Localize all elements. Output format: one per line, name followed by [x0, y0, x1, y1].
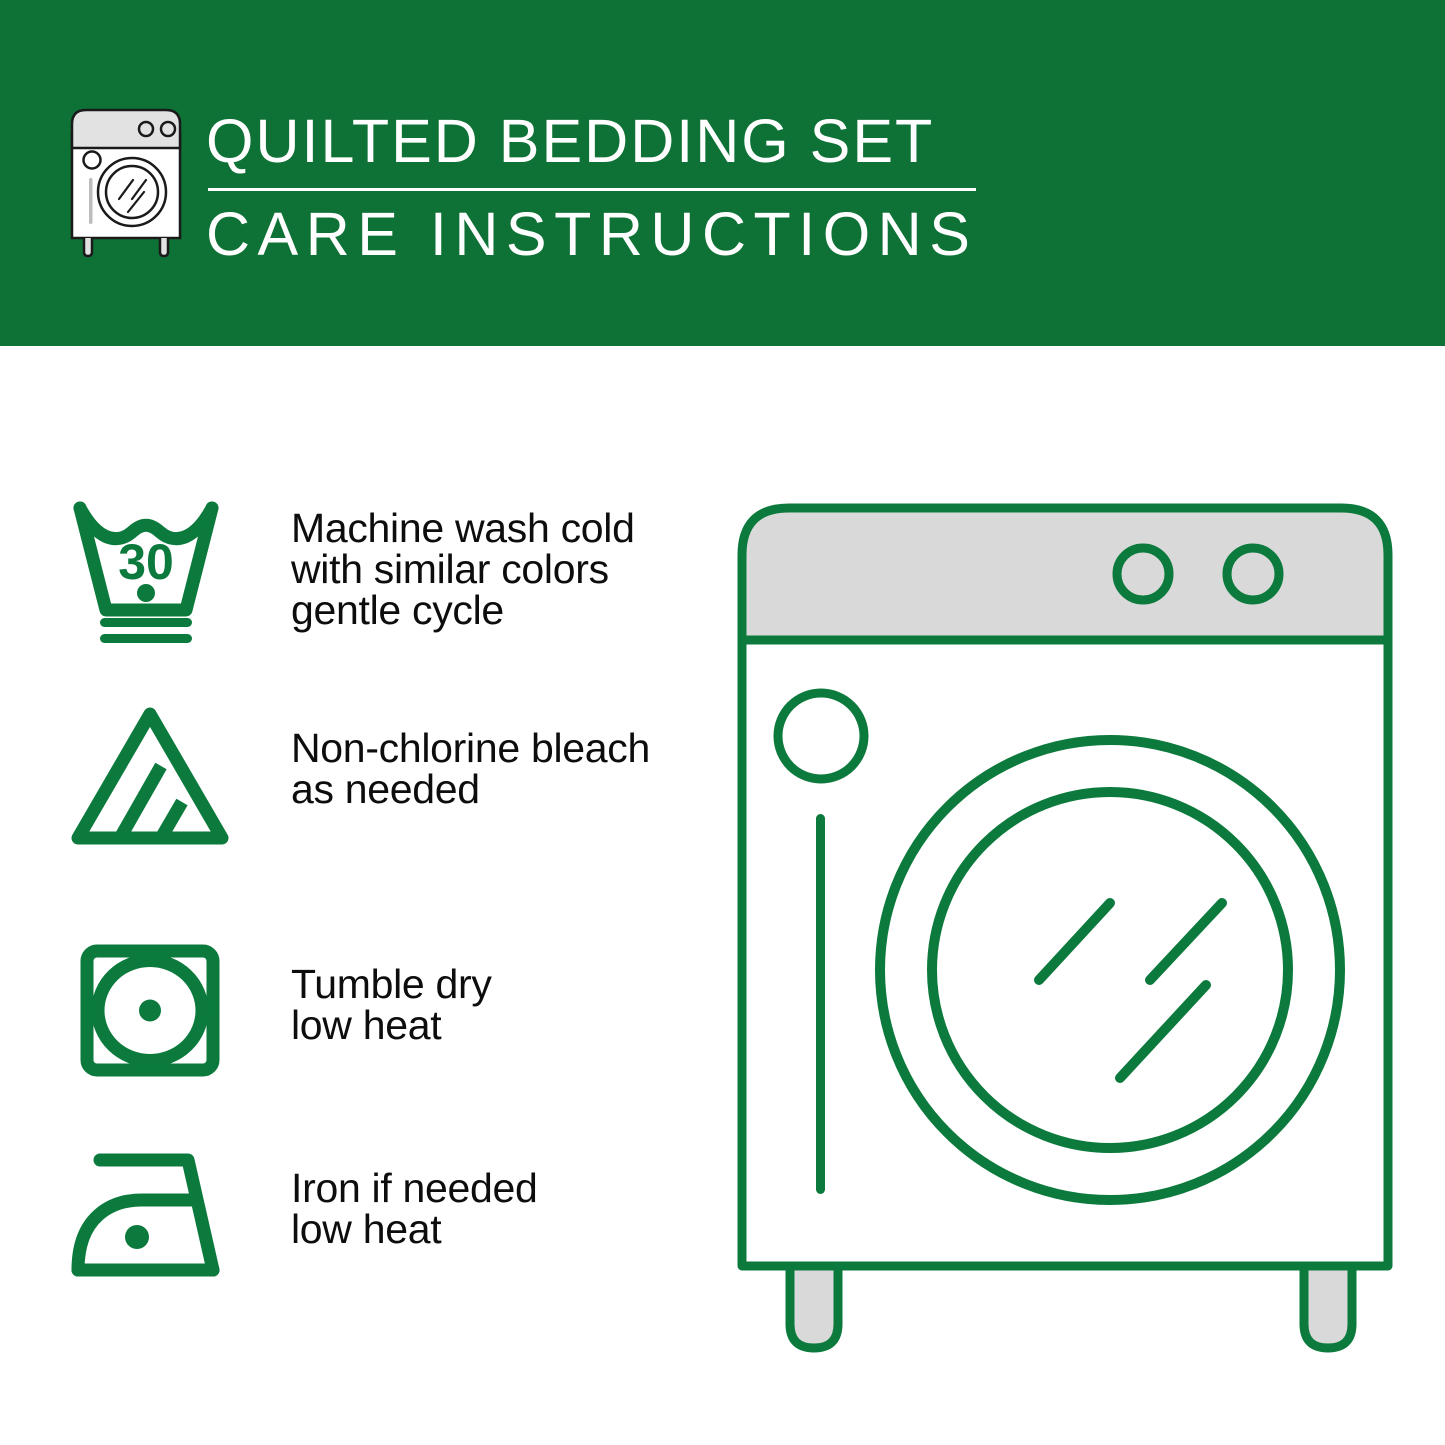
wash-temperature-label: 30: [118, 534, 174, 590]
leg-right: [1304, 1266, 1352, 1348]
header-banner: QUILTED BEDDING SET CARE INSTRUCTIONS: [0, 0, 1445, 346]
leg-left: [790, 1266, 838, 1348]
care-text-bleach: Non-chlorine bleach as needed: [291, 728, 650, 810]
tumble-dry-icon: [70, 942, 240, 1092]
door-streaks: [1039, 903, 1222, 1078]
header-title-block: QUILTED BEDDING SET: [206, 104, 986, 178]
care-text-tumble-dry: Tumble dry low heat: [291, 964, 492, 1046]
detergent-slot: [816, 814, 825, 1194]
bleach-triangle-icon: [70, 706, 240, 856]
care-text-machine-wash: Machine wash cold with similar colors ge…: [291, 508, 635, 631]
door-outer-ring: [880, 740, 1340, 1200]
title-divider: [208, 188, 976, 191]
control-panel-fill: [742, 508, 1388, 640]
indicator-light-icon: [778, 693, 864, 779]
care-text-iron: Iron if needed low heat: [291, 1168, 538, 1250]
washing-machine-illustration: [700, 440, 1445, 1400]
care-instruction-list: 30 Machine wash cold with similar colors…: [0, 346, 700, 1445]
wash-tub-30-icon: 30: [70, 494, 240, 644]
page-title: QUILTED BEDDING SET: [206, 104, 986, 178]
page-subtitle: CARE INSTRUCTIONS: [206, 196, 977, 272]
washing-machine-icon: [64, 100, 188, 260]
door-inner-ring: [932, 792, 1288, 1148]
iron-icon: [70, 1146, 240, 1296]
care-instructions-infographic: QUILTED BEDDING SET CARE INSTRUCTIONS 30: [0, 0, 1445, 1445]
